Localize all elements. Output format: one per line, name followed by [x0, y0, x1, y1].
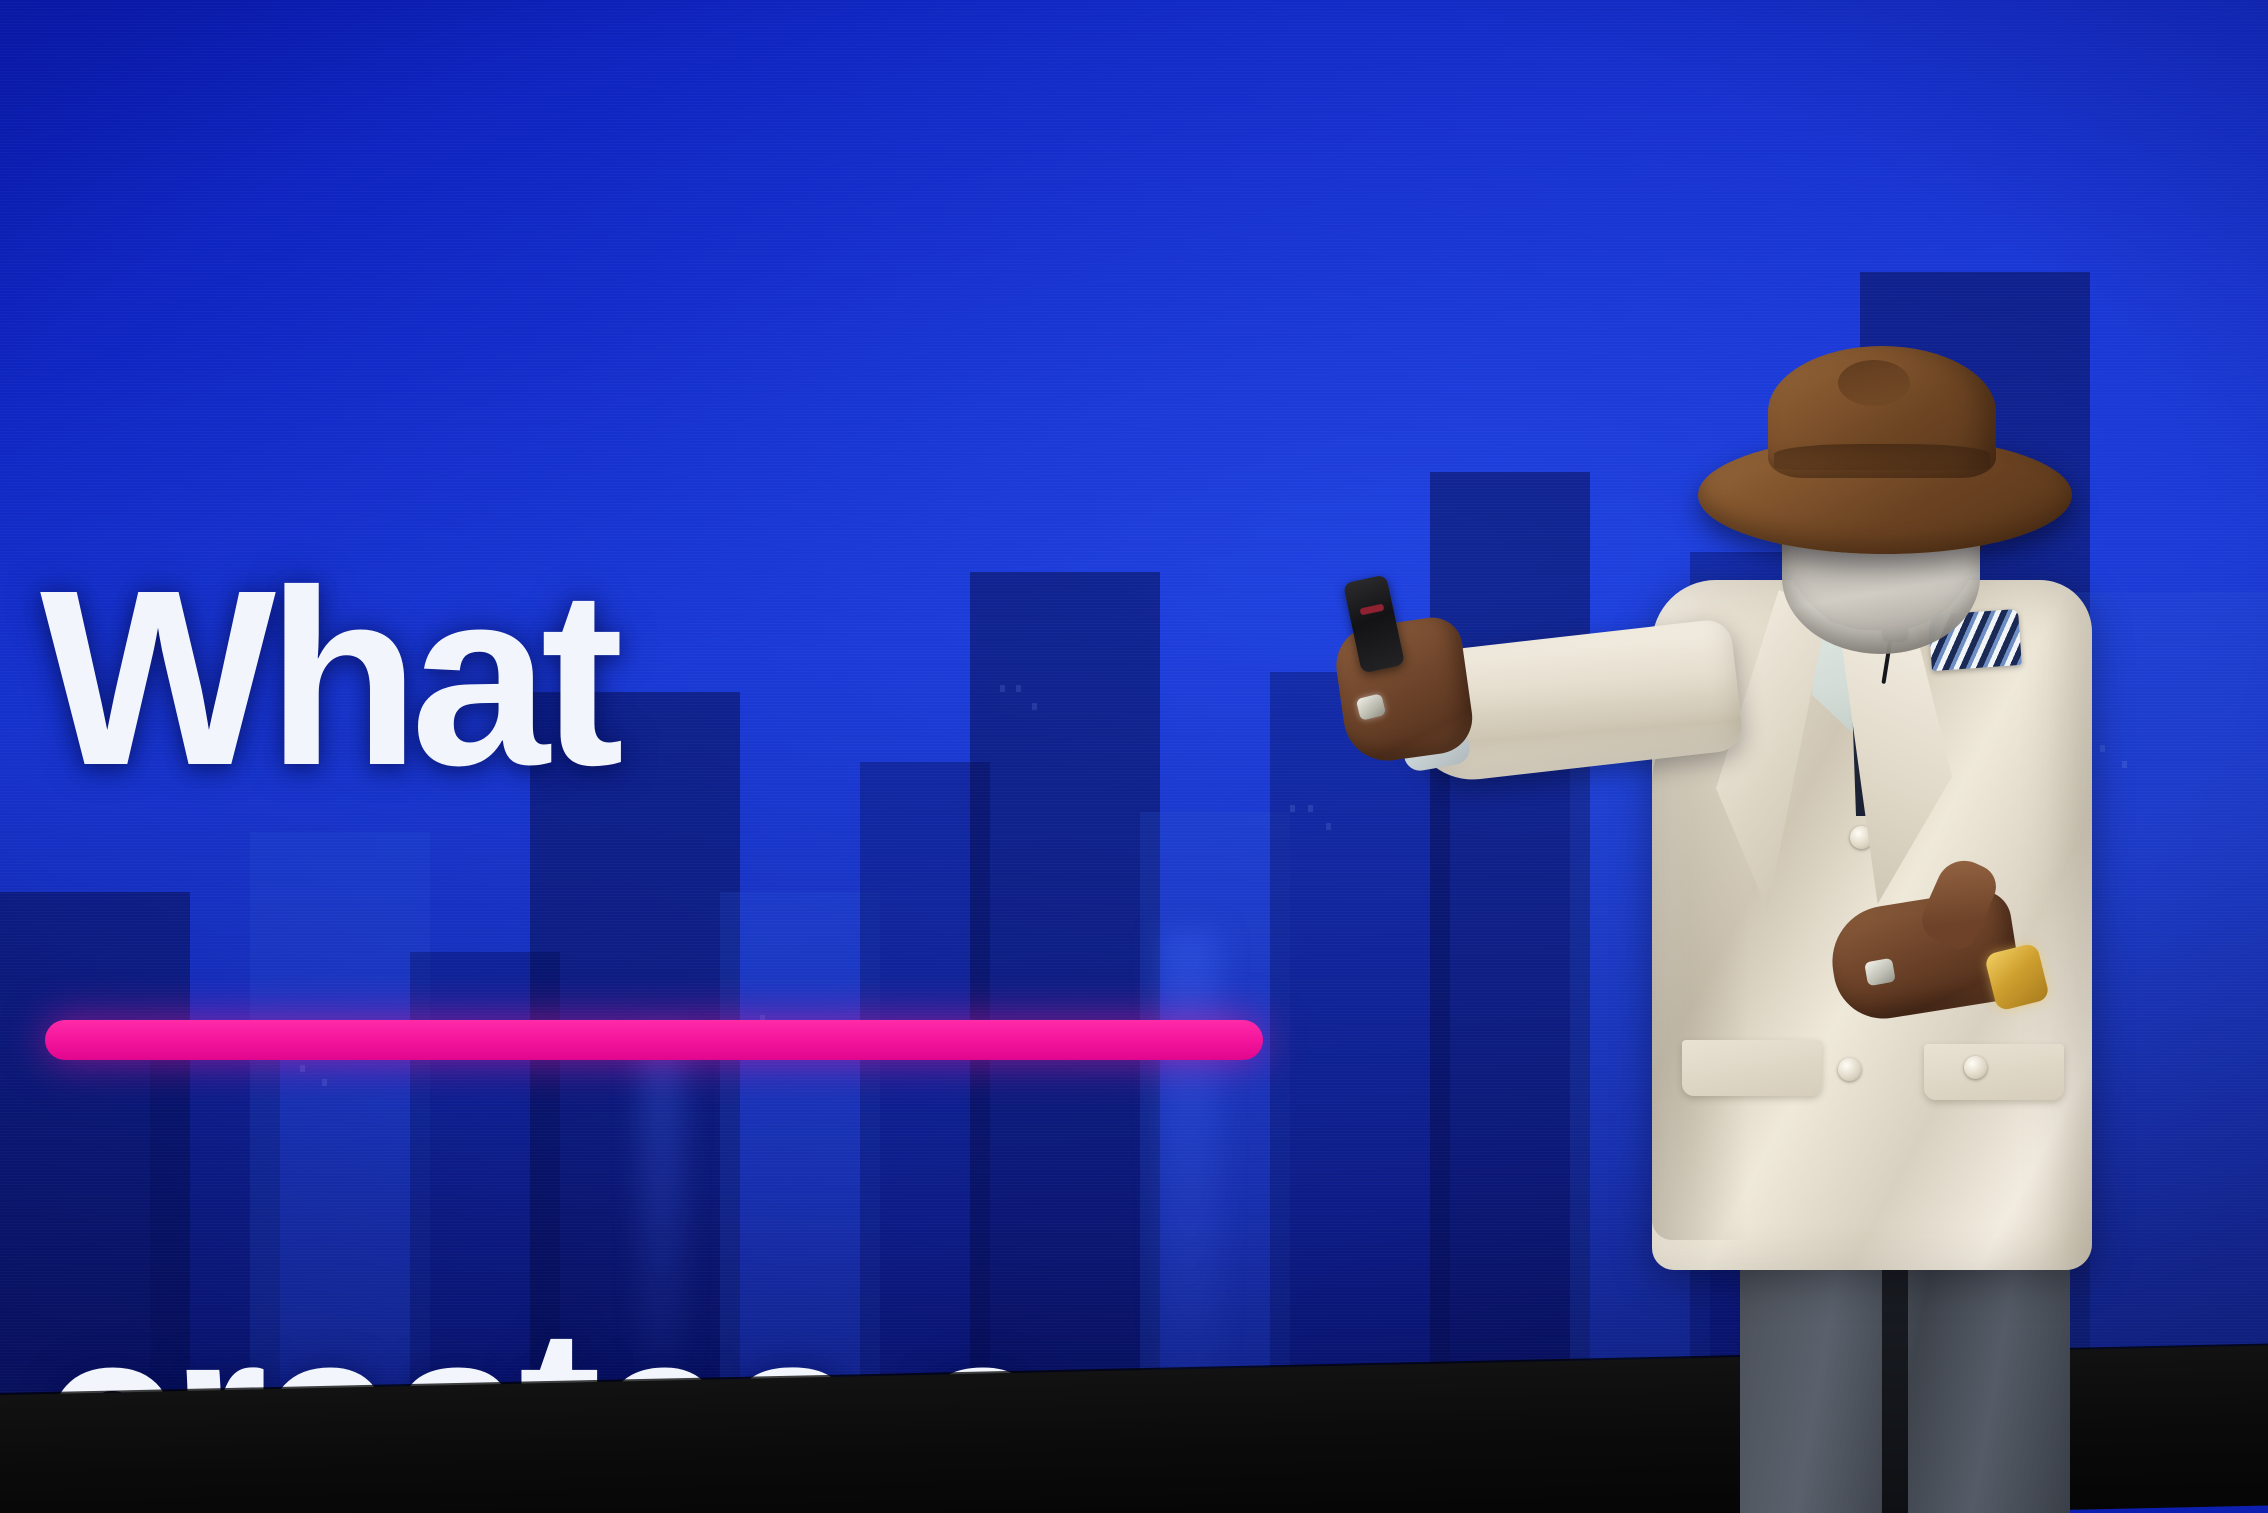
jacket-button-lower	[1838, 1058, 1861, 1081]
extended-hand	[1331, 614, 1477, 766]
headline-line-1: What	[40, 555, 1043, 801]
wedding-ring	[1864, 958, 1896, 986]
speaker-figure	[1430, 340, 2268, 1513]
accent-underline-bar	[45, 1020, 1263, 1060]
slide-headline: What creates a Brand?	[40, 62, 1043, 1452]
jacket-pocket-flap-right	[1924, 1044, 2064, 1100]
fedora-crown-dent	[1838, 360, 1910, 406]
trouser-gap-shadow	[1882, 1240, 1908, 1513]
jacket-pocket-flap-left	[1682, 1040, 1822, 1096]
jacket-button-side	[1964, 1056, 1987, 1079]
fedora-band-shadow	[1774, 444, 1990, 470]
conference-stage-photo: What creates a Brand?	[0, 0, 2268, 1513]
